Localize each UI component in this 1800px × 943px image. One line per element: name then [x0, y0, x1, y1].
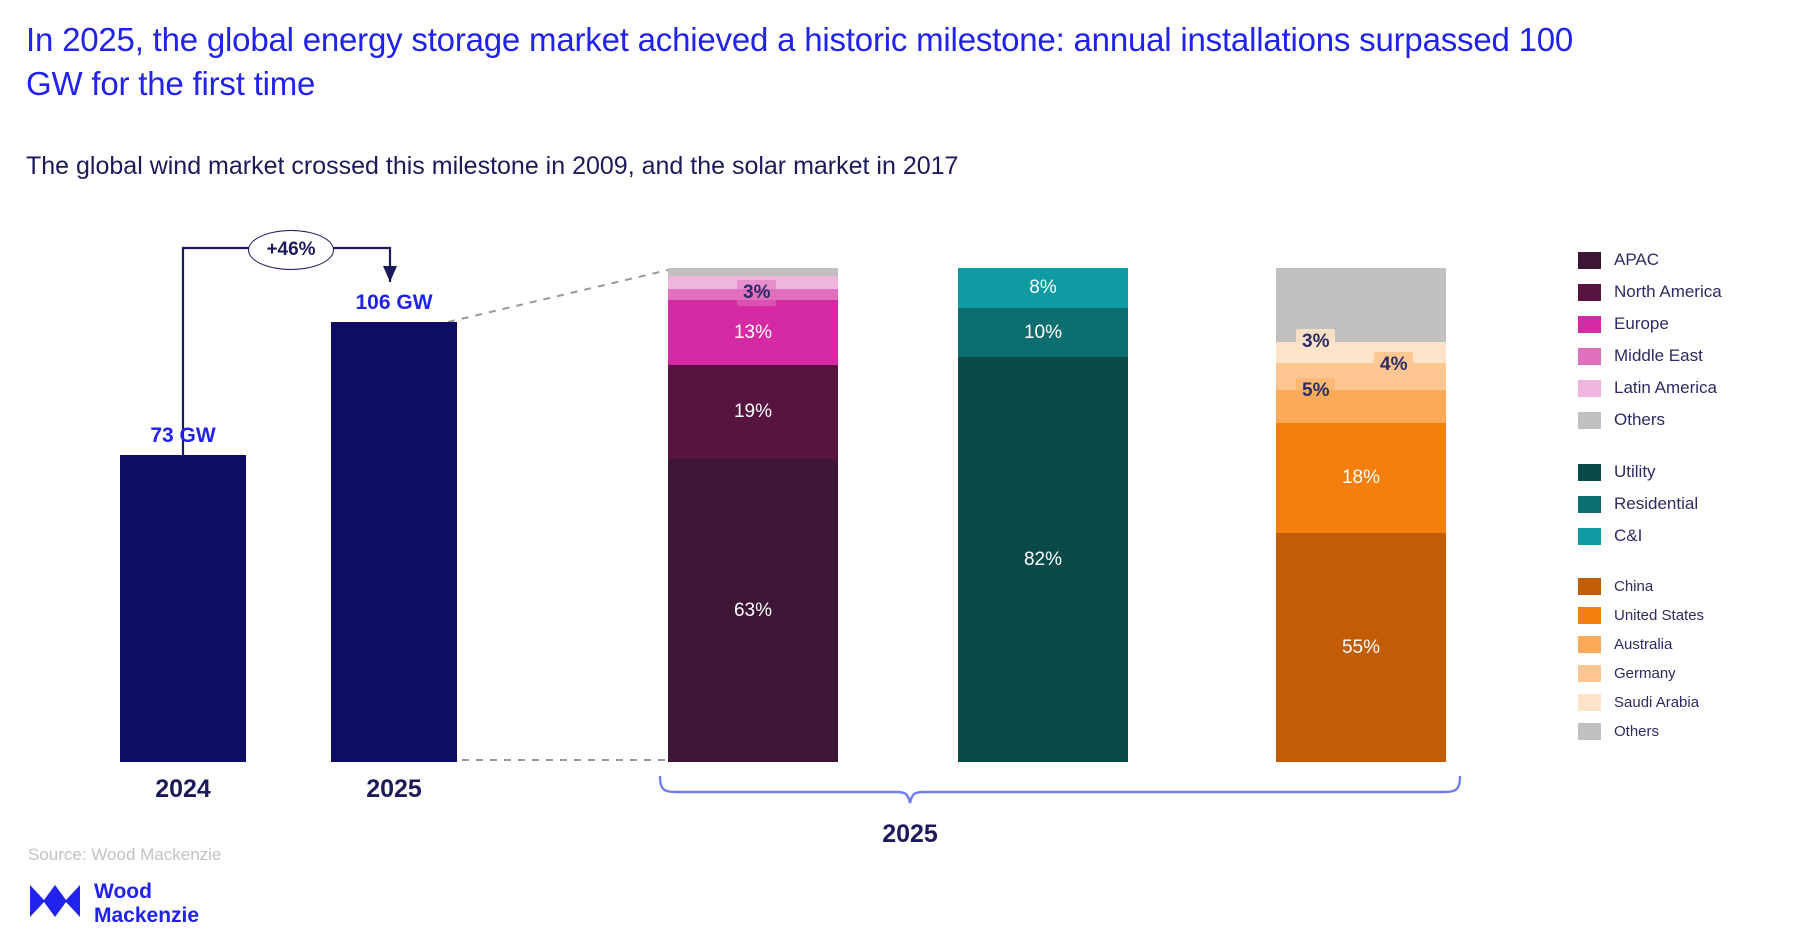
legend-label: United States	[1614, 607, 1704, 624]
segment-ci-label: 8%	[958, 277, 1128, 299]
growth-rate-callout: +46%	[248, 230, 334, 270]
legend-swatch-icon	[1578, 694, 1601, 711]
segment-saudi-arabia-label: 3%	[1296, 329, 1335, 355]
wood-mackenzie-logo: Wood Mackenzie	[28, 880, 199, 927]
legend-item-europe[interactable]: Europe	[1578, 308, 1793, 340]
axis-label-2025: 2025	[331, 775, 457, 804]
segment-middle-east-label: 3%	[737, 280, 776, 306]
legend-item-china[interactable]: China	[1578, 572, 1793, 601]
legend-item-others-region[interactable]: Others	[1578, 404, 1793, 436]
legend-item-ci[interactable]: C&I	[1578, 520, 1793, 552]
stacked-bar-by-region[interactable]: 13% 19% 63%	[668, 268, 838, 762]
group-bracket-label: 2025	[850, 820, 970, 849]
legend-swatch-icon	[1578, 607, 1601, 624]
legend-label: Utility	[1614, 462, 1656, 482]
legend-swatch-icon	[1578, 665, 1601, 682]
legend-label: Others	[1614, 410, 1665, 430]
legend-item-utility[interactable]: Utility	[1578, 456, 1793, 488]
segment-residential-label: 10%	[958, 322, 1128, 344]
wood-mackenzie-wordmark: Wood Mackenzie	[94, 880, 199, 927]
legend-label: Germany	[1614, 665, 1676, 682]
legend-label: Residential	[1614, 494, 1698, 514]
stacked-bar-by-segment[interactable]: 8% 10% 82%	[958, 268, 1128, 762]
chart-svg-overlay	[0, 0, 1800, 943]
legend-swatch-icon	[1578, 412, 1601, 429]
legend-swatch-icon	[1578, 578, 1601, 595]
legend-label: Saudi Arabia	[1614, 694, 1699, 711]
chart-legend: APAC North America Europe Middle East La…	[1578, 244, 1793, 766]
growth-arrowhead	[383, 266, 397, 282]
segment-north-america-label: 19%	[668, 401, 838, 423]
legend-group-region: APAC North America Europe Middle East La…	[1578, 244, 1793, 436]
legend-item-australia[interactable]: Australia	[1578, 630, 1793, 659]
bar-2025-value-label: 106 GW	[322, 291, 466, 315]
legend-item-north-america[interactable]: North America	[1578, 276, 1793, 308]
legend-label: APAC	[1614, 250, 1659, 270]
growth-rate-value: +46%	[266, 239, 315, 261]
legend-swatch-icon	[1578, 252, 1601, 269]
chart-plot-area: +46% 73 GW 2024 106 GW 2025 13% 19% 63% …	[0, 0, 1800, 943]
group-bracket	[660, 776, 1460, 803]
legend-swatch-icon	[1578, 316, 1601, 333]
legend-label: Others	[1614, 723, 1659, 740]
legend-label: Latin America	[1614, 378, 1717, 398]
legend-swatch-icon	[1578, 380, 1601, 397]
segment-australia-label: 5%	[1296, 378, 1335, 404]
segment-utility-label: 82%	[958, 549, 1128, 571]
legend-swatch-icon	[1578, 284, 1601, 301]
legend-item-latin-america[interactable]: Latin America	[1578, 372, 1793, 404]
wood-mackenzie-mark-icon	[28, 882, 82, 925]
legend-label: North America	[1614, 282, 1722, 302]
segment-china[interactable]: 55%	[1276, 533, 1446, 762]
legend-item-middle-east[interactable]: Middle East	[1578, 340, 1793, 372]
segment-apac-label: 63%	[668, 600, 838, 622]
legend-item-united-states[interactable]: United States	[1578, 601, 1793, 630]
segment-europe[interactable]: 13%	[668, 300, 838, 365]
legend-group-country: China United States Australia Germany Sa…	[1578, 572, 1793, 746]
segment-residential[interactable]: 10%	[958, 308, 1128, 357]
legend-swatch-icon	[1578, 348, 1601, 365]
legend-label: Europe	[1614, 314, 1669, 334]
legend-item-others-country[interactable]: Others	[1578, 717, 1793, 746]
logo-line-1: Wood	[94, 880, 199, 904]
legend-swatch-icon	[1578, 528, 1601, 545]
segment-others[interactable]	[668, 268, 838, 276]
legend-group-segment: Utility Residential C&I	[1578, 456, 1793, 552]
legend-swatch-icon	[1578, 723, 1601, 740]
legend-label: Middle East	[1614, 346, 1703, 366]
segment-china-label: 55%	[1276, 637, 1446, 659]
segment-germany-label: 4%	[1374, 352, 1413, 378]
bar-2024-value-label: 73 GW	[120, 424, 246, 448]
segment-utility[interactable]: 82%	[958, 357, 1128, 762]
segment-united-states[interactable]: 18%	[1276, 423, 1446, 533]
source-attribution: Source: Wood Mackenzie	[28, 845, 221, 865]
segment-ci[interactable]: 8%	[958, 268, 1128, 308]
legend-item-residential[interactable]: Residential	[1578, 488, 1793, 520]
bar-2025[interactable]	[331, 322, 457, 762]
callout-leader-lines	[448, 270, 668, 760]
segment-north-america[interactable]: 19%	[668, 365, 838, 459]
legend-swatch-icon	[1578, 636, 1601, 653]
segment-europe-label: 13%	[668, 322, 838, 344]
bar-2024[interactable]	[120, 455, 246, 762]
segment-united-states-label: 18%	[1276, 467, 1446, 489]
legend-swatch-icon	[1578, 464, 1601, 481]
legend-item-germany[interactable]: Germany	[1578, 659, 1793, 688]
legend-label: China	[1614, 578, 1653, 595]
segment-apac[interactable]: 63%	[668, 459, 838, 762]
logo-line-2: Mackenzie	[94, 904, 199, 928]
legend-label: Australia	[1614, 636, 1672, 653]
legend-swatch-icon	[1578, 496, 1601, 513]
legend-item-apac[interactable]: APAC	[1578, 244, 1793, 276]
legend-item-saudi-arabia[interactable]: Saudi Arabia	[1578, 688, 1793, 717]
axis-label-2024: 2024	[120, 775, 246, 804]
legend-label: C&I	[1614, 526, 1642, 546]
